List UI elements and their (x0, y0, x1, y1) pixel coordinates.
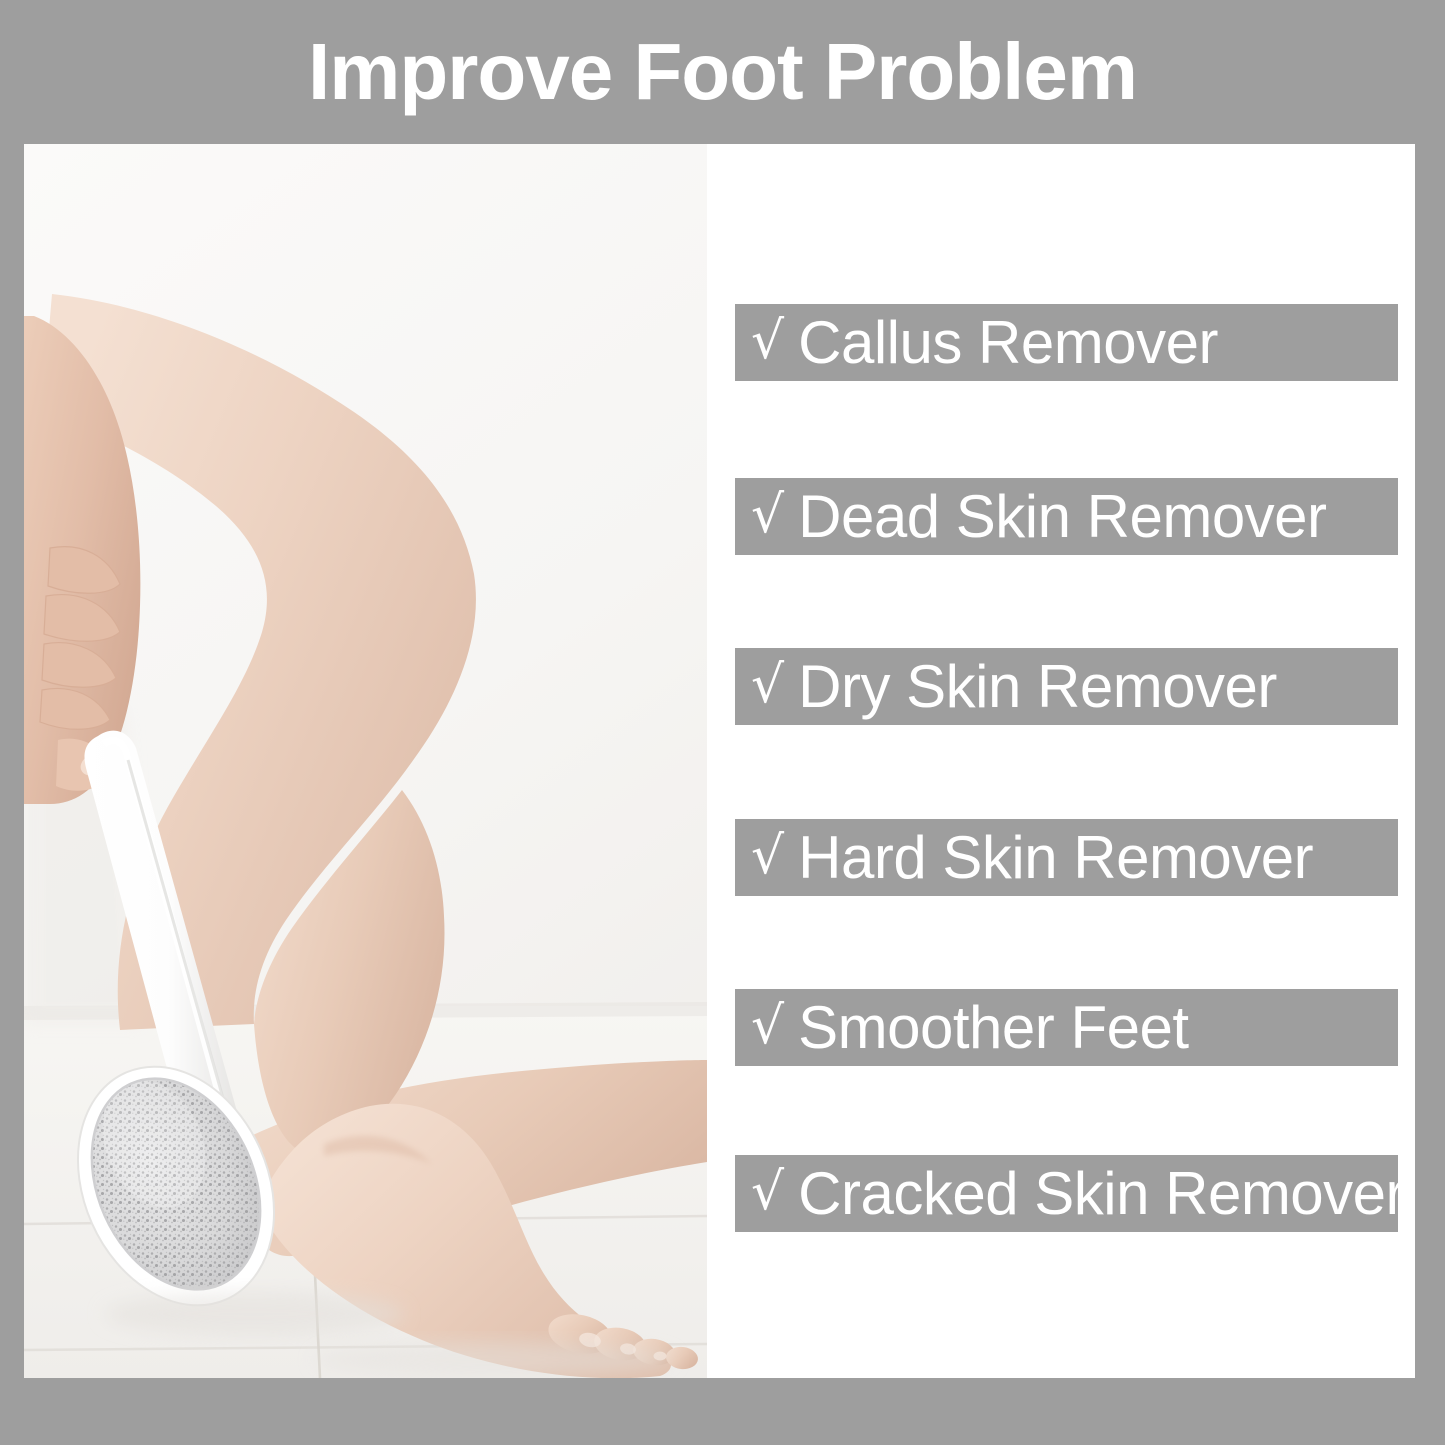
feature-item-dry-skin-remover: √ Dry Skin Remover (735, 648, 1398, 725)
product-infographic: Improve Foot Problem (0, 0, 1445, 1445)
check-icon: √ (751, 1166, 784, 1218)
feature-list: √ Callus Remover √ Dead Skin Remover √ D… (735, 144, 1415, 1378)
check-icon: √ (751, 830, 784, 882)
feature-item-hard-skin-remover: √ Hard Skin Remover (735, 819, 1398, 896)
title-bar: Improve Foot Problem (0, 0, 1445, 144)
feature-label: Cracked Skin Remover (798, 1164, 1405, 1224)
feature-label: Smoother Feet (798, 998, 1188, 1058)
feature-label: Callus Remover (798, 313, 1218, 373)
page-title: Improve Foot Problem (308, 32, 1137, 112)
product-photo (24, 144, 707, 1378)
feature-item-cracked-skin-remover: √ Cracked Skin Remover (735, 1155, 1398, 1232)
product-photo-illustration (24, 144, 707, 1378)
check-icon: √ (751, 659, 784, 711)
check-icon: √ (751, 489, 784, 541)
feature-item-dead-skin-remover: √ Dead Skin Remover (735, 478, 1398, 555)
feature-label: Hard Skin Remover (798, 828, 1313, 888)
check-icon: √ (751, 315, 784, 367)
feature-label: Dry Skin Remover (798, 657, 1277, 717)
content-panel: √ Callus Remover √ Dead Skin Remover √ D… (24, 144, 1415, 1378)
feature-label: Dead Skin Remover (798, 487, 1326, 547)
feature-item-smoother-feet: √ Smoother Feet (735, 989, 1398, 1066)
feature-item-callus-remover: √ Callus Remover (735, 304, 1398, 381)
check-icon: √ (751, 1000, 784, 1052)
